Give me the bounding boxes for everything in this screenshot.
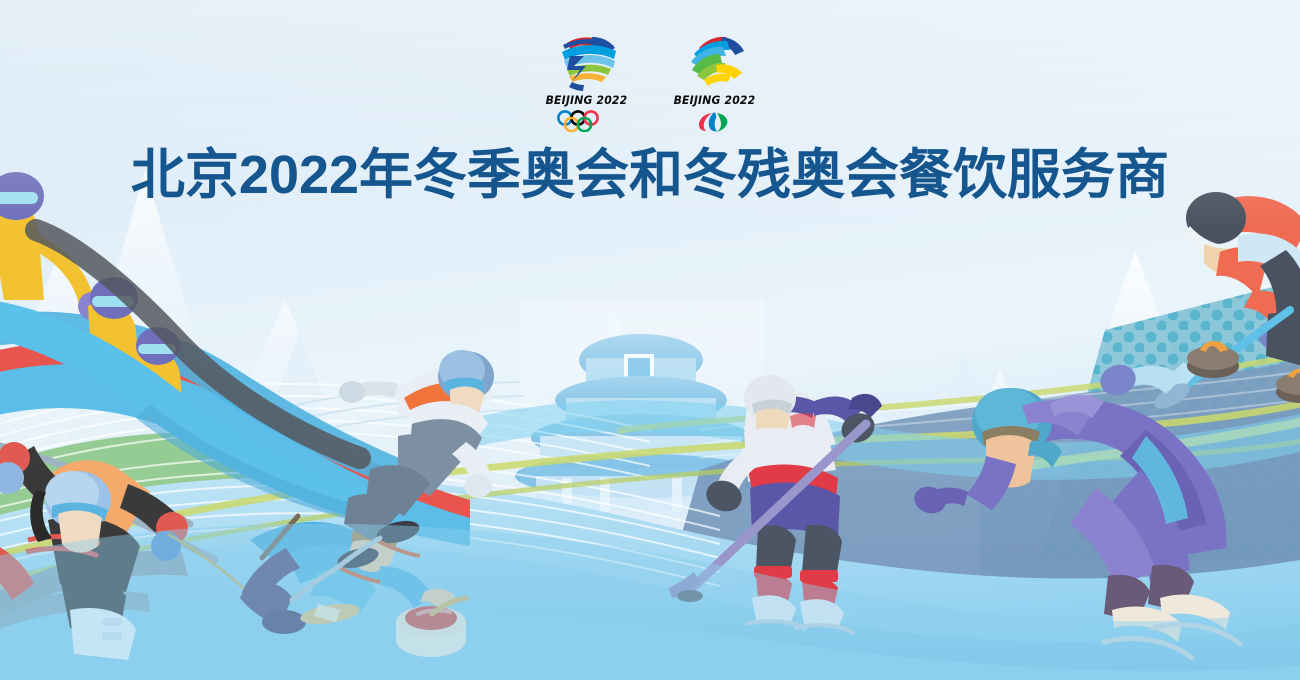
paralympic-emblem: BEIJING 2022 [664,30,764,133]
beijing-2022-catering-banner: BEIJING 2022 [0,0,1300,680]
paralympic-wordmark: BEIJING 2022 [673,93,755,107]
olympic-wordmark: BEIJING 2022 [545,93,627,107]
emblem-row: BEIJING 2022 [0,30,1300,133]
agitos-icon [690,111,738,133]
flight-emblem-icon [664,30,764,92]
page-title: 北京2022年冬季奥会和冬残奥会餐饮服务商 [0,142,1300,208]
olympic-rings-icon [553,110,619,132]
olympic-emblem: BEIJING 2022 [536,30,636,132]
winter-dream-emblem-icon [536,30,636,92]
